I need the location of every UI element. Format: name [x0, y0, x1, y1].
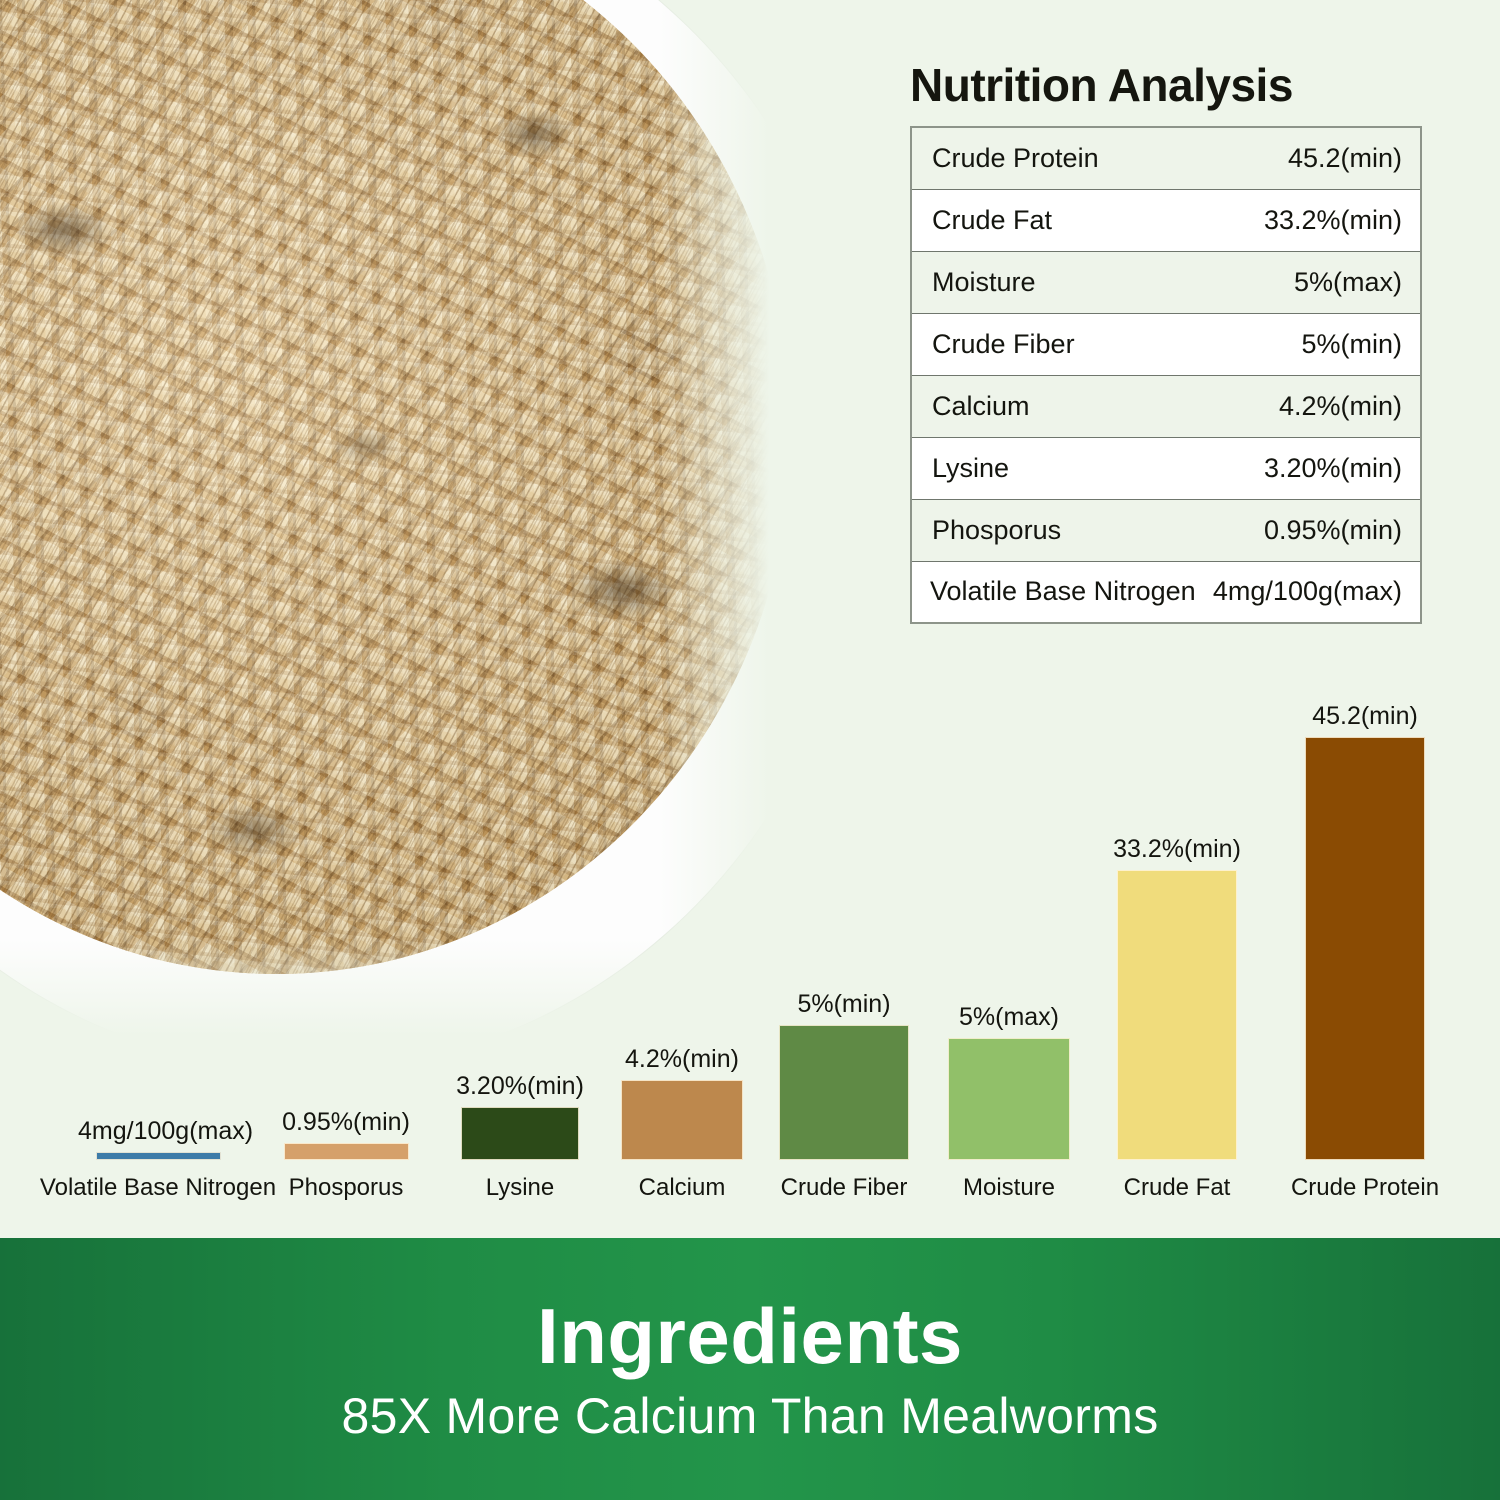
bar-value-label: 5%(max) — [930, 1005, 1088, 1030]
row-value: 5%(max) — [1206, 251, 1421, 313]
bar-category-label: Lysine — [486, 1174, 554, 1202]
bar-rect — [948, 1038, 1070, 1160]
bar-column: 3.20%(min) Lysine — [440, 1074, 600, 1160]
row-value: 0.95%(min) — [1206, 499, 1421, 561]
row-value: 45.2(min) — [1206, 127, 1421, 189]
table-row: Crude Fat 33.2%(min) — [911, 189, 1421, 251]
bar-column: 0.95%(min) Phosporus — [266, 1110, 426, 1160]
table-row: Lysine 3.20%(min) — [911, 437, 1421, 499]
bar-value-label: 4mg/100g(max) — [78, 1119, 238, 1144]
bar-rect — [96, 1152, 221, 1160]
nutrient-bar-chart: 4mg/100g(max) Volatile Base Nitrogen 0.9… — [0, 640, 1500, 1220]
bar-rect — [1117, 870, 1237, 1160]
bar-rect — [779, 1025, 909, 1160]
bar-category-label: Volatile Base Nitrogen — [40, 1174, 276, 1202]
bar-category-label: Moisture — [963, 1174, 1055, 1202]
bar-column: 5%(min) Crude Fiber — [762, 992, 926, 1160]
bar-column: 4mg/100g(max) Volatile Base Nitrogen — [78, 1119, 238, 1160]
row-label: Moisture — [911, 251, 1206, 313]
bar-category-label: Crude Fat — [1124, 1174, 1231, 1202]
bar-value-label: 45.2(min) — [1282, 704, 1448, 729]
bar-category-label: Phosporus — [289, 1174, 404, 1202]
bar-value-label: 5%(min) — [762, 992, 926, 1017]
nutrition-title: Nutrition Analysis — [910, 62, 1422, 108]
row-value: 5%(min) — [1206, 313, 1421, 375]
row-label: Crude Fat — [911, 189, 1206, 251]
row-value: 4.2%(min) — [1206, 375, 1421, 437]
bar-rect — [621, 1080, 743, 1160]
row-label: Lysine — [911, 437, 1206, 499]
bar-column: 45.2(min) Crude Protein — [1282, 704, 1448, 1160]
row-label: Volatile Base Nitrogen — [911, 561, 1206, 623]
row-value: 33.2%(min) — [1206, 189, 1421, 251]
bar-value-label: 4.2%(min) — [602, 1047, 762, 1072]
bar-column: 5%(max) Moisture — [930, 1005, 1088, 1160]
table-row: Phosporus 0.95%(min) — [911, 499, 1421, 561]
row-value: 3.20%(min) — [1206, 437, 1421, 499]
bar-value-label: 3.20%(min) — [440, 1074, 600, 1099]
nutrition-table: Crude Protein 45.2(min) Crude Fat 33.2%(… — [910, 126, 1422, 624]
table-row: Volatile Base Nitrogen 4mg/100g(max) — [911, 561, 1421, 623]
banner-title: Ingredients — [537, 1297, 963, 1375]
row-label: Crude Fiber — [911, 313, 1206, 375]
table-row: Crude Fiber 5%(min) — [911, 313, 1421, 375]
row-label: Crude Protein — [911, 127, 1206, 189]
bar-column: 4.2%(min) Calcium — [602, 1047, 762, 1160]
bar-value-label: 0.95%(min) — [266, 1110, 426, 1135]
bar-category-label: Crude Protein — [1291, 1174, 1439, 1202]
row-label: Calcium — [911, 375, 1206, 437]
table-row: Crude Protein 45.2(min) — [911, 127, 1421, 189]
ingredients-banner: Ingredients 85X More Calcium Than Mealwo… — [0, 1238, 1500, 1500]
bar-category-label: Calcium — [639, 1174, 726, 1202]
table-row: Calcium 4.2%(min) — [911, 375, 1421, 437]
nutrition-analysis-section: Nutrition Analysis Crude Protein 45.2(mi… — [910, 62, 1422, 624]
banner-subtitle: 85X More Calcium Than Mealworms — [342, 1391, 1159, 1441]
bar-rect — [284, 1143, 409, 1160]
bar-rect — [1305, 737, 1425, 1160]
bar-column: 33.2%(min) Crude Fat — [1098, 837, 1256, 1160]
row-value: 4mg/100g(max) — [1206, 561, 1421, 623]
table-row: Moisture 5%(max) — [911, 251, 1421, 313]
bar-value-label: 33.2%(min) — [1098, 837, 1256, 862]
bar-category-label: Crude Fiber — [781, 1174, 908, 1202]
row-label: Phosporus — [911, 499, 1206, 561]
bar-rect — [461, 1107, 579, 1160]
